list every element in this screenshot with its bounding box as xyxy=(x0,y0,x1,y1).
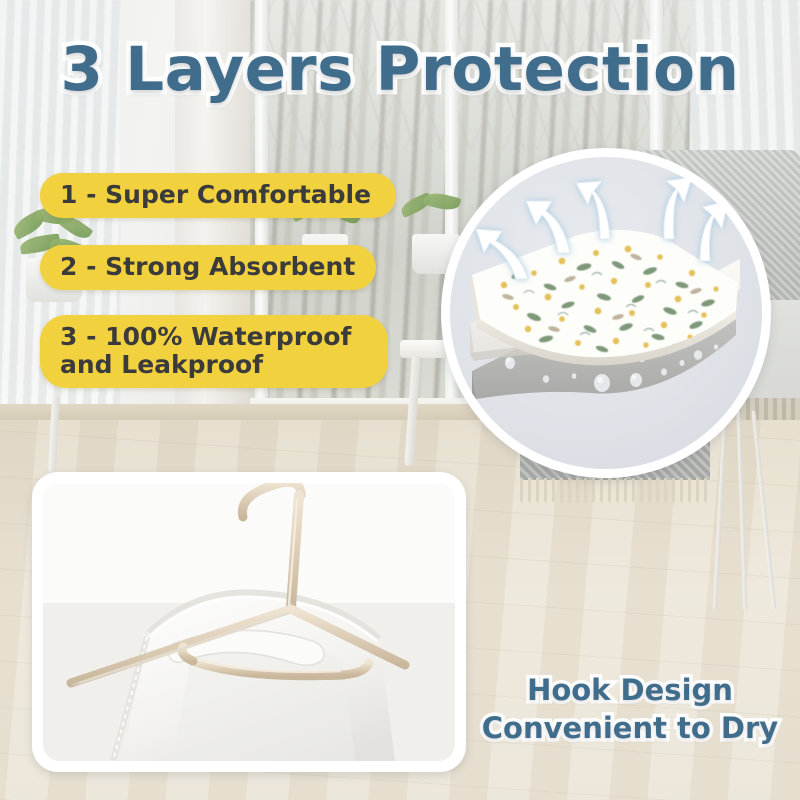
hook-caption: Hook Design Convenient to Dry xyxy=(470,672,790,747)
hook-photo-frame xyxy=(32,472,466,772)
arrow-4 xyxy=(664,177,692,239)
page-title: 3 Layers Protection xyxy=(0,34,800,105)
hook-photo xyxy=(43,483,455,761)
feature-badge-3: 3 - 100% Waterproof and Leakproof xyxy=(40,315,388,388)
product-poster: 3 Layers Protection 1 - Super Comfortabl… xyxy=(0,0,800,800)
layer-diagram-svg xyxy=(450,157,762,469)
hook-photo-svg xyxy=(43,483,455,761)
feature-badge-2: 2 - Strong Absorbent xyxy=(40,245,376,290)
arrow-2 xyxy=(526,201,570,253)
layer-diagram-circle xyxy=(441,148,771,478)
arrow-3 xyxy=(576,181,610,239)
layer-diagram-inner xyxy=(450,157,762,469)
arrow-5 xyxy=(700,201,728,261)
feature-badge-1: 1 - Super Comfortable xyxy=(40,173,396,218)
